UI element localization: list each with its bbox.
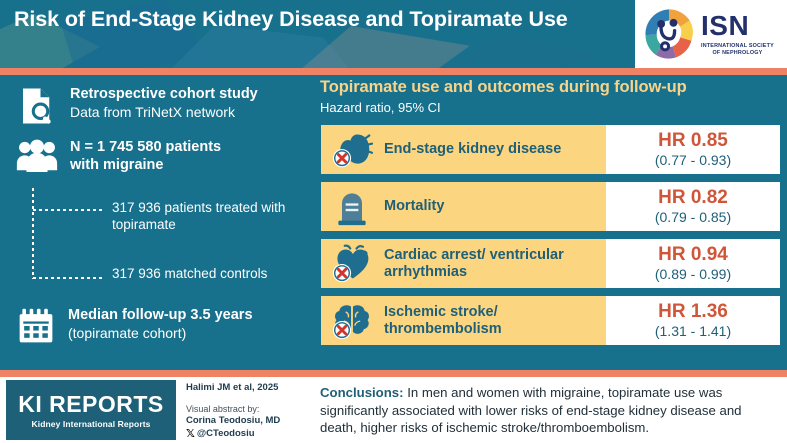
- x-twitter-icon: 𝕏: [186, 428, 195, 440]
- confidence-interval: (0.79 - 0.85): [655, 209, 731, 226]
- hazard-ratio-value: HR 1.36: [658, 301, 728, 323]
- visual-abstract-author: Corina Teodosiu, MD: [186, 415, 301, 427]
- method-light-text: with migraine: [70, 156, 221, 174]
- result-row-cardiac-arrest: Cardiac arrest/ ventricular arrhythmias …: [319, 237, 782, 290]
- method-light-text: Data from TriNetX network: [70, 103, 258, 121]
- footer-divider: [0, 370, 787, 377]
- ki-reports-logo: KI REPORTS Kidney International Reports: [6, 380, 176, 440]
- result-label: Mortality: [384, 198, 444, 215]
- calendar-icon: [16, 306, 56, 346]
- method-strong-text: Retrospective cohort study: [70, 85, 258, 103]
- ki-reports-subtitle: Kidney International Reports: [32, 419, 151, 429]
- document-search-icon: [16, 85, 58, 127]
- ki-reports-name: KI REPORTS: [18, 392, 164, 417]
- result-row-label-cell: Ischemic stroke/ thrombembolism: [321, 296, 606, 345]
- header-divider: [0, 68, 787, 75]
- result-row-ischemic-stroke: Ischemic stroke/ thrombembolism HR 1.36 …: [319, 294, 782, 347]
- result-label: End-stage kidney disease: [384, 141, 561, 158]
- branch-connector-horizontal: [33, 209, 105, 211]
- result-row-mortality: Mortality HR 0.82 (0.79 - 0.85): [319, 180, 782, 233]
- result-row-value-cell: HR 0.85 (0.77 - 0.93): [606, 125, 780, 174]
- result-row-value-cell: HR 1.36 (1.31 - 1.41): [606, 296, 780, 345]
- result-row-value-cell: HR 0.82 (0.79 - 0.85): [606, 182, 780, 231]
- hazard-ratio-value: HR 0.85: [658, 130, 728, 152]
- method-item-population: N = 1 745 580 patients with migraine: [16, 138, 221, 178]
- isn-logo: ISN INTERNATIONAL SOCIETY OF NEPHROLOGY: [635, 0, 787, 68]
- results-title: Topiramate use and outcomes during follo…: [320, 78, 687, 97]
- tombstone-icon: [329, 185, 375, 229]
- result-row-label-cell: End-stage kidney disease: [321, 125, 606, 174]
- social-handle-text: @CTeodosiu: [197, 428, 255, 440]
- results-rows: End-stage kidney disease HR 0.85 (0.77 -…: [319, 123, 782, 351]
- method-light-text: (topiramate cohort): [68, 324, 253, 342]
- branch-connector-horizontal: [33, 277, 105, 279]
- confidence-interval: (0.77 - 0.93): [655, 152, 731, 169]
- hazard-ratio-value: HR 0.94: [658, 244, 728, 266]
- poster-header: Risk of End-Stage Kidney Disease and Top…: [0, 0, 787, 68]
- branch-item-controls: 317 936 matched controls: [112, 265, 267, 282]
- method-item-followup: Median follow-up 3.5 years (topiramate c…: [16, 306, 253, 346]
- poster-body: Retrospective cohort study Data from Tri…: [0, 75, 787, 370]
- branch-item-treated: 317 936 patients treated with topiramate: [112, 199, 312, 233]
- kidney-icon: [329, 128, 375, 172]
- conclusion-block: Conclusions: In men and women with migra…: [320, 384, 780, 437]
- result-label: Ischemic stroke/ thrombembolism: [384, 304, 606, 338]
- method-strong-text: Median follow-up 3.5 years: [68, 306, 253, 324]
- isn-emblem-icon: [641, 6, 697, 62]
- heart-icon: [329, 242, 375, 286]
- confidence-interval: (1.31 - 1.41): [655, 323, 731, 340]
- citation-reference: Halimi JM et al, 2025: [186, 382, 301, 394]
- result-label: Cardiac arrest/ ventricular arrhythmias: [384, 247, 606, 281]
- brain-icon: [329, 299, 375, 343]
- isn-logo-subtitle-line2: OF NEPHROLOGY: [701, 50, 774, 57]
- method-strong-text: N = 1 745 580 patients: [70, 138, 221, 156]
- branch-connector-vertical: [32, 188, 34, 279]
- conclusion-label: Conclusions:: [320, 385, 404, 400]
- page-title: Risk of End-Stage Kidney Disease and Top…: [14, 5, 634, 34]
- visual-abstract-poster: Risk of End-Stage Kidney Disease and Top…: [0, 0, 787, 443]
- results-column: Topiramate use and outcomes during follo…: [312, 75, 787, 370]
- poster-footer: KI REPORTS Kidney International Reports …: [0, 377, 787, 443]
- result-row-label-cell: Cardiac arrest/ ventricular arrhythmias: [321, 239, 606, 288]
- social-handle[interactable]: 𝕏 @CTeodosiu: [186, 428, 301, 440]
- citation-block: Halimi JM et al, 2025 Visual abstract by…: [186, 382, 301, 440]
- method-item-study-design: Retrospective cohort study Data from Tri…: [16, 85, 258, 127]
- result-row-eskd: End-stage kidney disease HR 0.85 (0.77 -…: [319, 123, 782, 176]
- isn-logo-name: ISN: [701, 12, 774, 40]
- result-row-value-cell: HR 0.94 (0.89 - 0.99): [606, 239, 780, 288]
- hazard-ratio-value: HR 0.82: [658, 187, 728, 209]
- results-subtitle: Hazard ratio, 95% CI: [320, 100, 441, 115]
- methods-column: Retrospective cohort study Data from Tri…: [0, 75, 312, 370]
- visual-abstract-by-label: Visual abstract by:: [186, 403, 301, 415]
- result-row-label-cell: Mortality: [321, 182, 606, 231]
- isn-logo-subtitle-line1: INTERNATIONAL SOCIETY: [701, 43, 774, 50]
- confidence-interval: (0.89 - 0.99): [655, 266, 731, 283]
- people-group-icon: [16, 138, 58, 178]
